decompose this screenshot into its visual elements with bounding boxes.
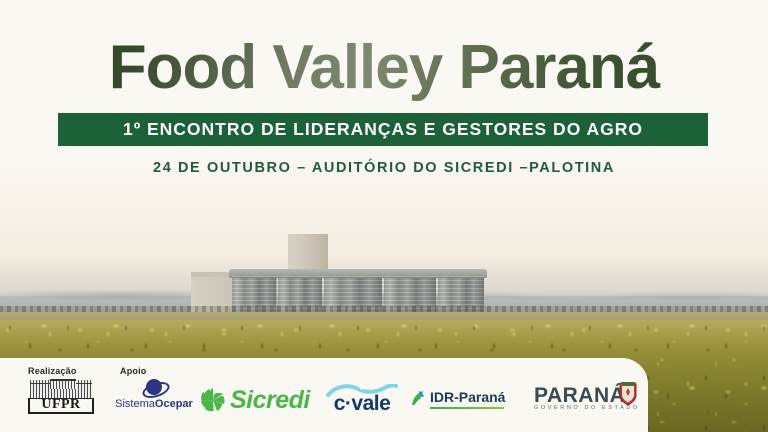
- parana-coat-of-arms-icon: [618, 382, 638, 406]
- parana-subtext: GOVERNO DO ESTADO: [534, 405, 620, 411]
- ocepar-word-sistema: Sistema: [115, 398, 155, 410]
- event-poster: Food Valley Paraná 1º ENCONTRO DE LIDERA…: [0, 0, 768, 432]
- idr-underline: [430, 407, 504, 409]
- sistema-ocepar-logo[interactable]: SistemaOcepar: [112, 378, 196, 414]
- ocepar-word-ocepar: Ocepar: [155, 398, 193, 410]
- sicredi-pinwheel-icon: [200, 387, 226, 413]
- page-title: Food Valley Paraná: [0, 33, 768, 103]
- date-and-venue: 24 DE OUTUBRO – AUDITÓRIO DO SICREDI –PA…: [0, 160, 768, 176]
- ufpr-pediment-icon: [50, 379, 76, 389]
- subtitle-text: 1º ENCONTRO DE LIDERANÇAS E GESTORES DO …: [123, 119, 643, 140]
- ocepar-planet-icon: [142, 378, 166, 398]
- cvale-logo[interactable]: c·vale: [322, 384, 402, 416]
- parana-governo-logo[interactable]: PARANÁ GOVERNO DO ESTADO: [534, 384, 638, 414]
- idr-leaf-icon: [410, 389, 428, 407]
- cvale-wordmark: c·vale: [322, 392, 402, 416]
- ufpr-logo[interactable]: UFPR: [28, 380, 94, 414]
- sicredi-logo[interactable]: Sicredi: [200, 386, 318, 416]
- subtitle-banner: 1º ENCONTRO DE LIDERANÇAS E GESTORES DO …: [58, 113, 708, 146]
- apoio-label: Apoio: [120, 366, 147, 376]
- idr-parana-logo[interactable]: IDR-Paraná: [410, 388, 506, 412]
- ufpr-wordmark: UFPR: [28, 398, 94, 414]
- realizacao-label: Realização: [28, 366, 77, 376]
- ocepar-wordmark: SistemaOcepar: [112, 398, 196, 410]
- sicredi-wordmark: Sicredi: [230, 386, 310, 415]
- sponsor-panel: Realização Apoio UFPR SistemaOcepar: [0, 358, 648, 432]
- idr-wordmark: IDR-Paraná: [430, 389, 505, 405]
